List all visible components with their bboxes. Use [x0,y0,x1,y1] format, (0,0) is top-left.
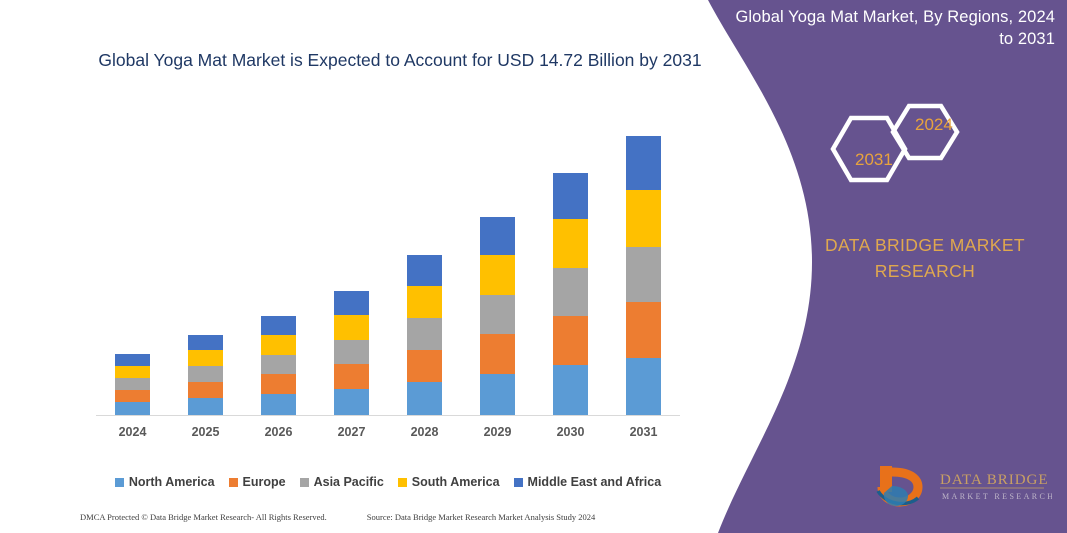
legend-label: Asia Pacific [314,475,384,489]
bar-column [243,116,315,415]
bar-segment [407,382,442,415]
bar-segment [626,247,661,302]
bar-column [170,116,242,415]
bar-segment [626,136,661,190]
bar-segment [553,316,588,365]
bar-segment [334,364,369,389]
x-axis-label: 2025 [170,425,242,439]
svg-text:DATA BRIDGE: DATA BRIDGE [940,472,1049,488]
bar-segment [115,402,150,415]
bar-segment [407,350,442,382]
bar-segment [115,378,150,390]
bar-segment [553,365,588,415]
bar-segment [261,335,296,355]
bar-segment [115,390,150,402]
x-axis-label: 2026 [243,425,315,439]
hex-label-end: 2031 [855,150,893,170]
bar-segment [480,374,515,415]
infographic-root: Global Yoga Mat Market, By Regions, 2024… [0,0,1067,533]
legend-label: Middle East and Africa [528,475,662,489]
bar-segment [334,340,369,364]
legend-label: Europe [243,475,286,489]
hexagon-badges: 2031 2024 [815,92,1005,207]
bar-segment [188,398,223,415]
legend-item[interactable]: South America [398,475,500,489]
stacked-bar-2031 [626,136,661,415]
hex-label-start: 2024 [915,115,953,135]
bar-segment [480,217,515,255]
stacked-bars [96,116,680,415]
legend-item[interactable]: Europe [229,475,286,489]
bar-segment [553,219,588,268]
footer-copyright: DMCA Protected © Data Bridge Market Rese… [80,512,327,522]
footer: DMCA Protected © Data Bridge Market Rese… [80,508,680,526]
bar-column [316,116,388,415]
stacked-bar-2024 [115,354,150,415]
bar-segment [188,366,223,382]
legend-swatch-icon [514,478,523,487]
x-axis-label: 2029 [462,425,534,439]
legend-swatch-icon [229,478,238,487]
bar-segment [553,173,588,219]
svg-text:MARKET RESEARCH: MARKET RESEARCH [942,492,1052,501]
bar-segment [480,334,515,374]
legend-swatch-icon [115,478,124,487]
legend-label: North America [129,475,215,489]
x-axis-labels: 20242025202620272028202920302031 [96,422,680,442]
x-axis-label: 2027 [316,425,388,439]
bar-segment [334,389,369,415]
brand-name: DATA BRIDGE MARKET RESEARCH [790,232,1060,285]
stacked-bar-2027 [334,291,369,415]
bar-segment [188,382,223,398]
legend-swatch-icon [398,478,407,487]
bar-segment [188,335,223,350]
bar-segment [407,318,442,350]
bar-segment [480,255,515,295]
bar-segment [480,295,515,334]
panel-title: Global Yoga Mat Market, By Regions, 2024… [735,6,1055,51]
bar-segment [626,190,661,247]
legend-item[interactable]: North America [115,475,215,489]
x-axis-label: 2031 [608,425,680,439]
stacked-bar-2026 [261,316,296,415]
bar-column [535,116,607,415]
bar-segment [407,286,442,318]
bar-column [389,116,461,415]
brand-line-2: RESEARCH [790,258,1060,284]
x-axis-label: 2024 [97,425,169,439]
bar-segment [334,291,369,315]
footer-source: Source: Data Bridge Market Research Mark… [367,512,596,522]
bar-segment [626,358,661,415]
legend-swatch-icon [300,478,309,487]
bar-segment [115,354,150,366]
bar-segment [334,315,369,340]
page-title: Global Yoga Mat Market is Expected to Ac… [95,48,705,73]
bar-segment [188,350,223,366]
bar-column [97,116,169,415]
data-bridge-logo: DATA BRIDGE MARKET RESEARCH [872,462,1052,508]
bar-segment [553,268,588,316]
bar-segment [115,366,150,378]
legend-label: South America [412,475,500,489]
chart-plot-area [96,116,680,416]
bar-segment [261,374,296,394]
bar-column [462,116,534,415]
x-axis-label: 2030 [535,425,607,439]
stacked-bar-2029 [480,217,515,415]
bar-segment [626,302,661,358]
stacked-bar-2025 [188,335,223,415]
bar-segment [407,255,442,286]
bar-segment [261,394,296,415]
chart-legend: North AmericaEuropeAsia PacificSouth Ame… [96,471,680,493]
stacked-bar-2028 [407,255,442,415]
bar-segment [261,316,296,335]
legend-item[interactable]: Asia Pacific [300,475,384,489]
x-axis-label: 2028 [389,425,461,439]
stacked-bar-2030 [553,173,588,415]
brand-line-1: DATA BRIDGE MARKET [790,232,1060,258]
legend-item[interactable]: Middle East and Africa [514,475,662,489]
bar-segment [261,355,296,374]
x-axis-line [96,415,680,416]
bar-column [608,116,680,415]
